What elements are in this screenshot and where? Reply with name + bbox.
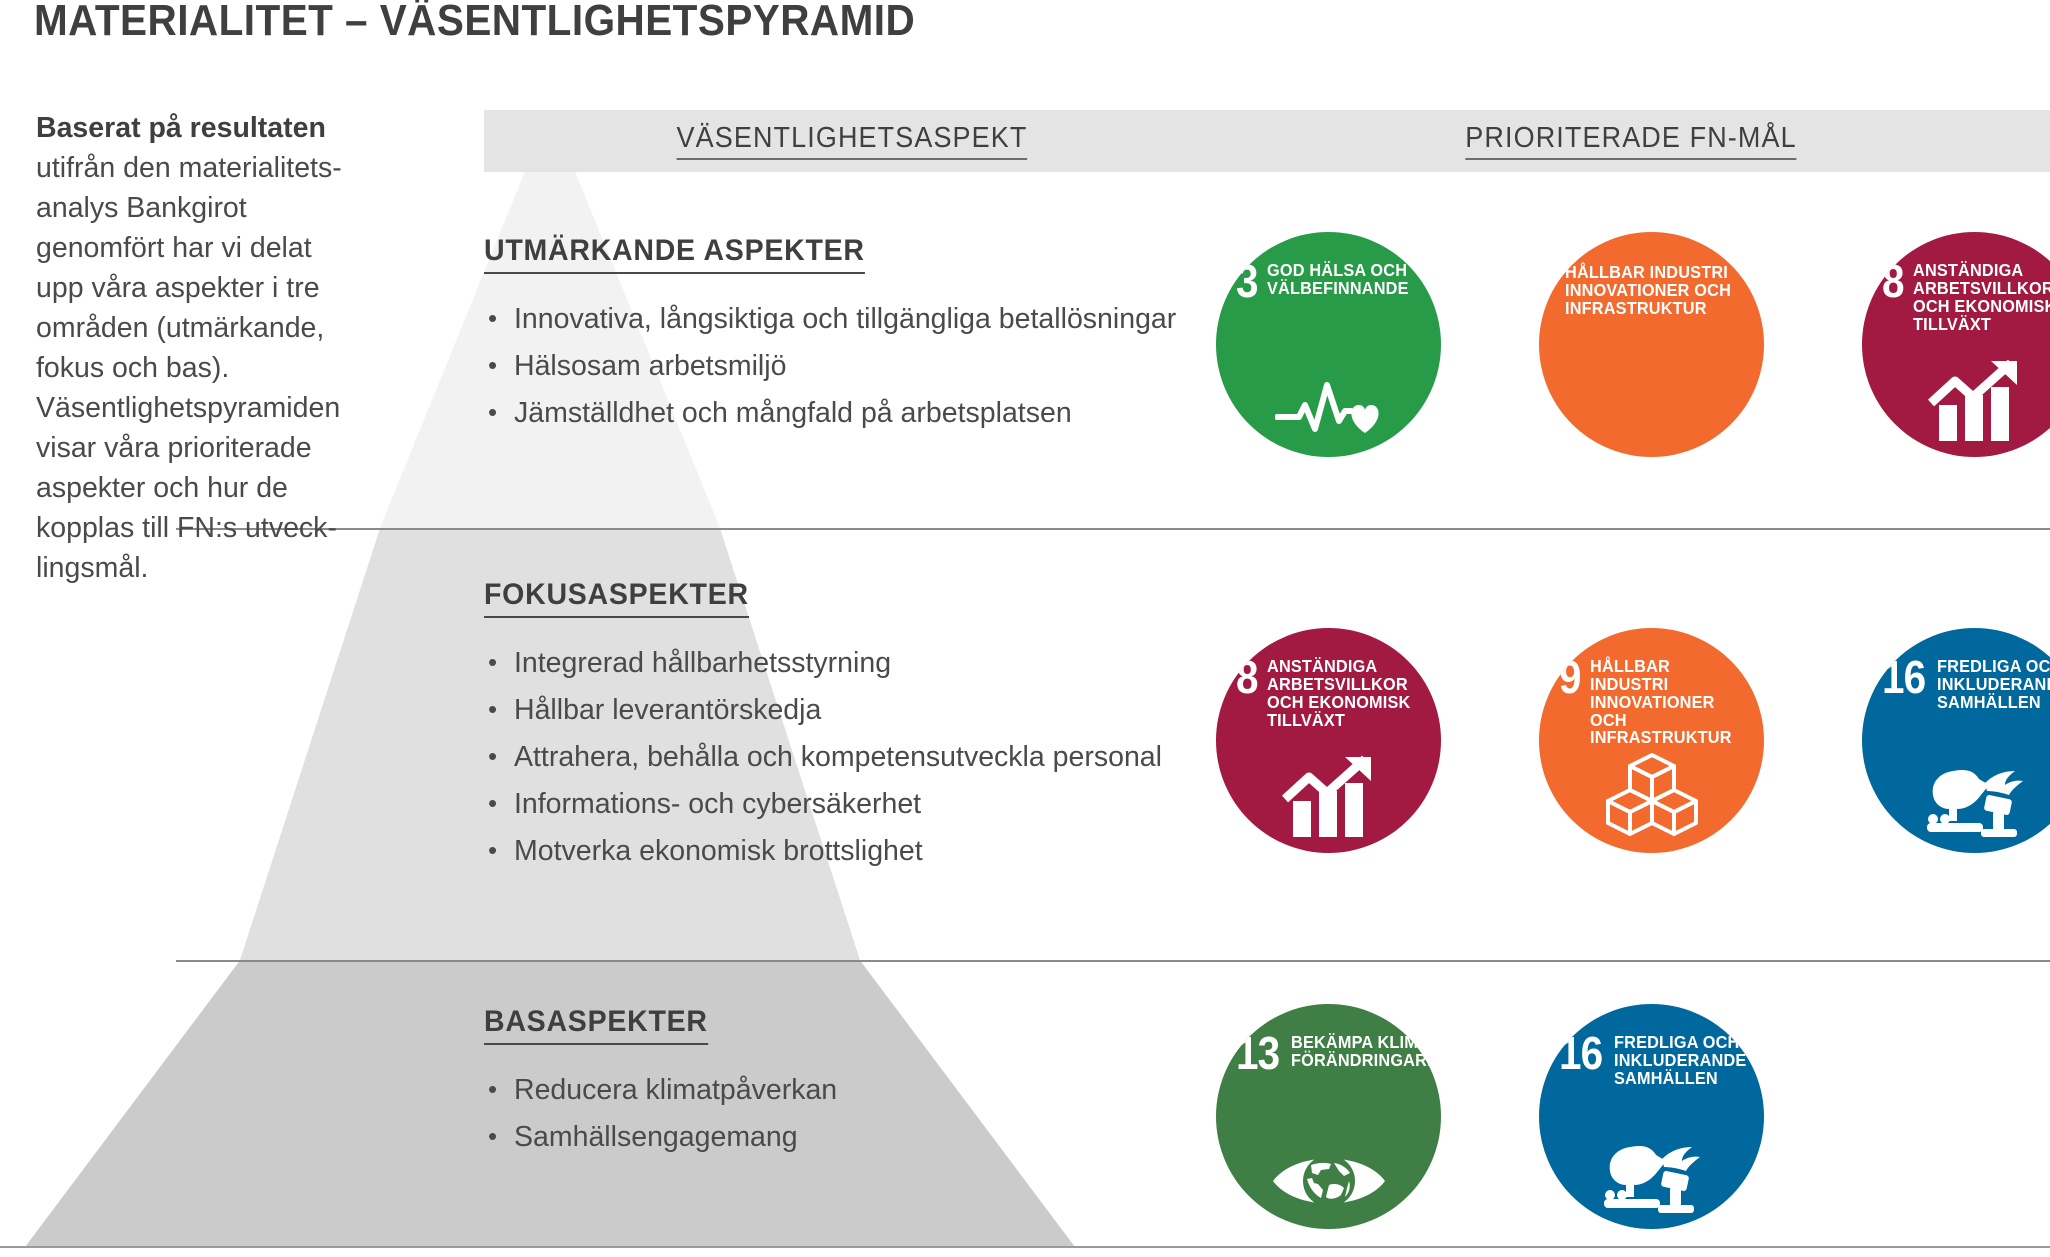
sdg-badge-number: 13 (1236, 1034, 1279, 1074)
column-header-goals-label: PRIORITERADE FN-MÅL (1465, 122, 1796, 160)
sdg-badge-16[interactable]: 16FREDLIGA OCH INKLUDERANDE SAMHÄLLEN (1539, 1004, 1764, 1229)
sdg-badge-row-bas: 13BEKÄMPA KLIMAT- FÖRÄNDRINGARNA 16FREDL… (1216, 1004, 1764, 1229)
sdg-badge-8[interactable]: 8ANSTÄNDIGA ARBETSVILLKOR OCH EKONOMISK … (1216, 628, 1441, 853)
sdg-badge-number: 16 (1882, 658, 1925, 698)
tier-title-utmarkande: UTMÄRKANDE ASPEKTER (484, 234, 865, 274)
list-item: Attrahera, behålla och kompetensutveckla… (484, 738, 1204, 777)
sdg-badge-13[interactable]: 13BEKÄMPA KLIMAT- FÖRÄNDRINGARNA (1216, 1004, 1441, 1229)
growth-chart-icon (1862, 359, 2050, 441)
sdg-badge-number: 8 (1236, 658, 1258, 698)
sdg-badge-number: 9 (1559, 658, 1581, 698)
intro-body: utifrån den materialitets­analys Bankgir… (36, 152, 342, 584)
sdg-badge-label: BEKÄMPA KLIMAT- FÖRÄNDRINGARNA (1291, 1034, 1441, 1070)
tier-divider-top (176, 528, 2050, 530)
sdg-badge-header: HÅLLBAR INDUSTRI INNOVATIONER OCH INFRAS… (1565, 264, 1748, 318)
column-header-aspect: VÄSENTLIGHETSASPEKT (484, 110, 1219, 172)
sdg-badge-header: 16FREDLIGA OCH INKLUDERANDE SAMHÄLLEN (1882, 658, 2050, 712)
tier-text-fokus: FOKUSASPEKTER Integrerad hållbarhetsstyr… (484, 578, 1204, 879)
sdg-badge-3[interactable]: 3GOD HÄLSA OCH VÄLBEFINNANDE (1216, 232, 1441, 457)
aspect-list-utmarkande: Innovativa, långsiktiga och tillgängliga… (484, 300, 1204, 433)
tier-text-bas: BASASPEKTER Reducera klimatpåverkan Samh… (484, 1005, 1204, 1165)
eye-globe-icon (1216, 1149, 1441, 1213)
dove-gavel-icon (1539, 1129, 1764, 1213)
sdg-badge-number: 3 (1236, 262, 1258, 302)
sdg-badge-label: HÅLLBAR INDUSTRI INNOVATIONER OCH INFRAS… (1565, 264, 1731, 318)
sdg-badge-label: GOD HÄLSA OCH VÄLBEFINNANDE (1267, 262, 1409, 298)
sdg-badge-number: 16 (1559, 1034, 1602, 1074)
list-item: Motverka ekonomisk brottslighet (484, 832, 1204, 871)
sdg-badge-8[interactable]: 8ANSTÄNDIGA ARBETSVILLKOR OCH EKONOMISK … (1862, 232, 2050, 457)
list-item: Samhällsengagemang (484, 1118, 1204, 1157)
tier-text-utmarkande: UTMÄRKANDE ASPEKTER Innovativa, långsikt… (484, 234, 1204, 441)
aspect-list-fokus: Integrerad hållbarhetsstyrning Hållbar l… (484, 644, 1204, 871)
list-item: Hållbar leverantörskedja (484, 691, 1204, 730)
list-item: Hälsosam arbetsmiljö (484, 347, 1204, 386)
list-item: Reducera klimatpåverkan (484, 1071, 1204, 1110)
sdg-badge-row-utmarkande: 3GOD HÄLSA OCH VÄLBEFINNANDE HÅLLBAR IND… (1216, 232, 2050, 457)
sdg-badge-header: 16FREDLIGA OCH INKLUDERANDE SAMHÄLLEN (1559, 1034, 1748, 1088)
heartbeat-icon (1216, 377, 1441, 441)
sdg-badge-header: 3GOD HÄLSA OCH VÄLBEFINNANDE (1236, 262, 1425, 302)
tier-title-bas: BASASPEKTER (484, 1005, 708, 1045)
sdg-badge-label: ANSTÄNDIGA ARBETSVILLKOR OCH EKONOMISK T… (1913, 262, 2050, 333)
sdg-badge-16[interactable]: 16FREDLIGA OCH INKLUDERANDE SAMHÄLLEN (1862, 628, 2050, 853)
aspect-list-bas: Reducera klimatpåverkan Samhällsengagema… (484, 1071, 1204, 1157)
list-item: Informations- och cybersäkerhet (484, 785, 1204, 824)
bottom-rule (0, 1246, 2050, 1248)
sdg-badge-9[interactable]: 9HÅLLBAR INDUSTRI INNOVATIONER OCH INFRA… (1539, 628, 1764, 853)
sdg-badge-header: 9HÅLLBAR INDUSTRI INNOVATIONER OCH INFRA… (1559, 658, 1748, 747)
sdg-badge-header: 8ANSTÄNDIGA ARBETSVILLKOR OCH EKONOMISK … (1236, 658, 1425, 729)
intro-text-block: Baserat på resultatenutifrån den materia… (36, 108, 356, 588)
sdg-badge-label: FREDLIGA OCH INKLUDERANDE SAMHÄLLEN (1937, 658, 2050, 712)
cubes-icon (1539, 753, 1764, 837)
list-item: Innovativa, långsiktiga och tillgängliga… (484, 300, 1204, 339)
sdg-badge-header: 8ANSTÄNDIGA ARBETSVILLKOR OCH EKONOMISK … (1882, 262, 2050, 333)
sdg-badge-unnumbered[interactable]: HÅLLBAR INDUSTRI INNOVATIONER OCH INFRAS… (1539, 232, 1764, 457)
intro-lead: Baserat på resultaten (36, 108, 356, 148)
sdg-badge-header: 13BEKÄMPA KLIMAT- FÖRÄNDRINGARNA (1236, 1034, 1425, 1074)
sdg-badge-label: HÅLLBAR INDUSTRI INNOVATIONER OCH INFRAS… (1590, 658, 1737, 747)
dove-gavel-icon (1862, 753, 2050, 837)
page-title: MATERIALITET – VÄSENTLIGHETSPYRAMID (34, 0, 915, 46)
sdg-badge-label: ANSTÄNDIGA ARBETSVILLKOR OCH EKONOMISK T… (1267, 658, 1410, 729)
growth-chart-icon (1216, 755, 1441, 837)
sdg-badge-number: 8 (1882, 262, 1904, 302)
sdg-badge-row-fokus: 8ANSTÄNDIGA ARBETSVILLKOR OCH EKONOMISK … (1216, 628, 2050, 853)
list-item: Jämställdhet och mångfald på arbetsplats… (484, 394, 1204, 433)
list-item: Integrerad hållbarhetsstyrning (484, 644, 1204, 683)
tier-title-fokus: FOKUSASPEKTER (484, 578, 749, 618)
column-header-goals: PRIORITERADE FN-MÅL (1212, 110, 2050, 172)
column-header-aspect-label: VÄSENTLIGHETSASPEKT (676, 122, 1027, 160)
sdg-badge-label: FREDLIGA OCH INKLUDERANDE SAMHÄLLEN (1614, 1034, 1746, 1088)
tier-divider-middle (176, 960, 2050, 962)
